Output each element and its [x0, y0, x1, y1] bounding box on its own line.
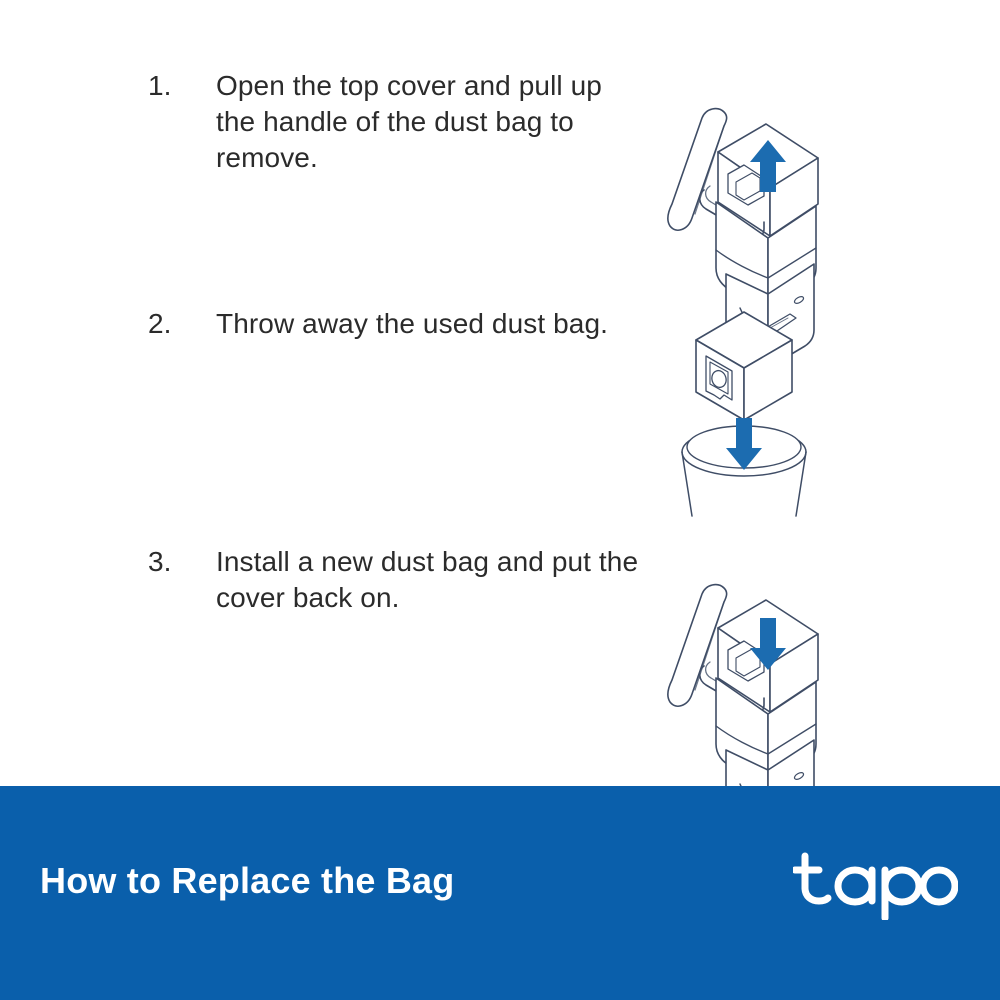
step-3-body: Install a new dust bag and put the cover… — [216, 546, 638, 613]
step-1-body: Open the top cover and pull up the handl… — [216, 70, 602, 173]
step-3-text: 3.Install a new dust bag and put the cov… — [182, 544, 642, 616]
footer-title: How to Replace the Bag — [40, 858, 454, 904]
tapo-logo — [793, 848, 958, 920]
step-2: 2.Throw away the used dust bag. — [0, 300, 1000, 530]
footer-banner: How to Replace the Bag — [0, 786, 1000, 1000]
step-1-number: 1. — [182, 68, 216, 104]
step-1: 1.Open the top cover and pull up the han… — [0, 62, 1000, 292]
step-3-illustration — [640, 538, 850, 778]
step-3: 3.Install a new dust bag and put the cov… — [0, 538, 1000, 778]
steps-section: 1.Open the top cover and pull up the han… — [0, 0, 1000, 786]
step-1-illustration — [640, 62, 850, 292]
step-2-illustration — [640, 300, 850, 530]
step-3-number: 3. — [182, 544, 216, 580]
step-2-body: Throw away the used dust bag. — [216, 308, 608, 339]
poster-canvas: 1.Open the top cover and pull up the han… — [0, 0, 1000, 1000]
step-2-number: 2. — [182, 306, 216, 342]
step-1-text: 1.Open the top cover and pull up the han… — [182, 68, 642, 176]
step-2-text: 2.Throw away the used dust bag. — [182, 306, 642, 342]
